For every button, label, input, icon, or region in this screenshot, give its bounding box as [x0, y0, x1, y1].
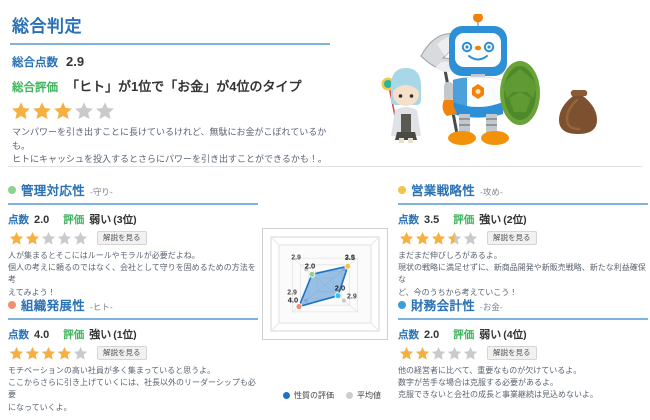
- legend-item-average: 平均値: [346, 390, 381, 401]
- star-icon: [9, 346, 24, 361]
- trait-card-eigyo: 営業戦略性 -攻め- 点数 3.5 評価 強い (2位) 解説を見る まだまだ伸…: [398, 180, 648, 299]
- star-icon: [9, 231, 24, 246]
- star-icon: [431, 346, 446, 361]
- trait-description: モチベーションの高い社員が多く集まっていると思うよ。 ここからさらに引き上げてい…: [8, 365, 258, 415]
- trait-card-header: 組織発展性 -ヒト-: [8, 295, 258, 314]
- legend-label-series: 性質の評価: [294, 390, 334, 401]
- trait-stars-row: 解説を見る: [398, 345, 648, 361]
- rating-label: 評価: [453, 327, 474, 342]
- svg-text:2.9: 2.9: [347, 294, 357, 301]
- star-icon: [95, 101, 115, 121]
- trait-card-zaimu: 財務会計性 -お金- 点数 2.0 評価 弱い (4位) 解説を見る 他の経営者…: [398, 295, 648, 402]
- rating-value: 弱い: [479, 326, 501, 342]
- star-icon: [41, 231, 56, 246]
- svg-text:2.9: 2.9: [345, 254, 355, 261]
- trait-description-line-2: 現状の戦略に満足せずに、新商品開発や新販売戦略、新たな利益確保な: [398, 262, 648, 287]
- radar-chart: 2.03.52.04.02.92.92.92.9: [262, 228, 388, 340]
- trait-divider: [8, 203, 258, 205]
- trait-description-line-1: モチベーションの高い社員が多く集まっていると思うよ。: [8, 365, 258, 377]
- trait-subtitle: -守り-: [90, 186, 113, 198]
- money-bag-icon: [559, 90, 597, 134]
- overall-description: マンパワーを引き出すことに長けているけれど、無駄にお金がこぼれているかも。 ヒト…: [12, 126, 340, 167]
- overall-rating-row: 総合評価 「ヒト」が1位で「お金」が4位のタイプ: [12, 76, 340, 95]
- trait-name: 営業戦略性: [411, 180, 475, 199]
- trait-name: 管理対応性: [21, 180, 85, 199]
- star-icon: [73, 231, 88, 246]
- trait-description-line-1: 他の経営者に比べて、重要なものが欠けているよ。: [398, 365, 648, 377]
- explain-button[interactable]: 解説を見る: [487, 231, 537, 245]
- trait-divider: [8, 318, 258, 320]
- score-label: 点数: [8, 212, 29, 227]
- legend-dot-icon: [283, 392, 290, 399]
- trait-description-line-2: ここからさらに引き上げていくには、社長以外のリーダーシップも必要: [8, 377, 258, 402]
- score-label: 点数: [398, 327, 419, 342]
- legend-item-series: 性質の評価: [283, 390, 334, 401]
- trait-name: 組織発展性: [21, 295, 85, 314]
- trait-card-soshiki: 組織発展性 -ヒト- 点数 4.0 評価 強い (1位) 解説を見る モチベーシ…: [8, 295, 258, 414]
- trait-subtitle: -ヒト-: [90, 301, 113, 313]
- trait-subtitle: -お金-: [480, 301, 503, 313]
- overall-score-row: 総合点数 2.9: [12, 54, 340, 70]
- rank-value: (4位): [503, 327, 526, 342]
- bullet-dot-icon: [8, 186, 16, 194]
- overall-summary-section: 総合判定 総合点数 2.9 総合評価 「ヒト」が1位で「お金」が4位のタイプ マ…: [10, 12, 340, 167]
- star-icon: [41, 346, 56, 361]
- trait-divider: [398, 203, 648, 205]
- trait-description-line-2: 数字が苦手な場合は克服する必要があるよ。: [398, 377, 648, 389]
- rank-value: (2位): [503, 212, 526, 227]
- overall-rating-value: 「ヒト」が1位で「お金」が4位のタイプ: [66, 76, 301, 95]
- score-value: 3.5: [424, 214, 439, 226]
- explain-button[interactable]: 解説を見る: [97, 231, 147, 245]
- star-icon: [415, 346, 430, 361]
- star-icon: [53, 101, 73, 121]
- score-value: 2.0: [424, 329, 439, 341]
- turtle-shield-icon: [500, 61, 540, 125]
- star-icon: [25, 231, 40, 246]
- trait-stars-row: 解説を見る: [398, 230, 648, 246]
- legend-label-average: 平均値: [357, 390, 381, 401]
- trait-name: 財務会計性: [411, 295, 475, 314]
- overall-score-label: 総合点数: [12, 54, 58, 70]
- hero-illustration: [345, 14, 645, 154]
- score-label: 点数: [398, 212, 419, 227]
- svg-text:2.0: 2.0: [305, 261, 315, 270]
- chart-legend: 性質の評価 平均値: [262, 390, 402, 401]
- trait-score-row: 点数 3.5 評価 強い (2位): [398, 211, 648, 227]
- svg-text:2.9: 2.9: [287, 290, 297, 297]
- rank-value: (1位): [113, 327, 136, 342]
- legend-dot-icon: [346, 392, 353, 399]
- trait-stars-row: 解説を見る: [8, 230, 258, 246]
- star-icon: [447, 346, 462, 361]
- trait-description-line-3: になっていくよ。: [8, 402, 258, 414]
- rating-label: 評価: [453, 212, 474, 227]
- page-title: 総合判定: [12, 12, 340, 37]
- rating-label: 評価: [63, 212, 84, 227]
- trait-star-rating: [9, 231, 88, 246]
- trait-star-rating: [9, 346, 88, 361]
- bullet-dot-icon: [398, 301, 406, 309]
- rank-value: (3位): [113, 212, 136, 227]
- star-icon: [447, 231, 462, 246]
- overall-rating-label: 総合評価: [12, 79, 58, 95]
- trait-description-line-1: まだまだ伸びしろがあるよ。: [398, 250, 648, 262]
- star-icon: [463, 346, 478, 361]
- trait-score-row: 点数 4.0 評価 強い (1位): [8, 326, 258, 342]
- score-label: 点数: [8, 327, 29, 342]
- rating-value: 強い: [89, 326, 111, 342]
- trait-description: まだまだ伸びしろがあるよ。 現状の戦略に満足せずに、新商品開発や新販売戦略、新た…: [398, 250, 648, 300]
- svg-text:4.0: 4.0: [288, 296, 298, 305]
- trait-card-header: 管理対応性 -守り-: [8, 180, 258, 199]
- trait-description-line-2: 個人の考えに頼るのではなく、会社として守りを固めるための方法を考: [8, 262, 258, 287]
- star-icon: [25, 346, 40, 361]
- trait-subtitle: -攻め-: [480, 186, 503, 198]
- robot-knight-icon: [443, 14, 512, 145]
- star-icon: [399, 231, 414, 246]
- trait-star-rating: [399, 346, 478, 361]
- rating-value: 弱い: [89, 211, 111, 227]
- trait-score-row: 点数 2.0 評価 弱い (3位): [8, 211, 258, 227]
- trait-card-kanri: 管理対応性 -守り- 点数 2.0 評価 弱い (3位) 解説を見る 人が集まる…: [8, 180, 258, 299]
- trait-description: 他の経営者に比べて、重要なものが欠けているよ。 数字が苦手な場合は克服する必要が…: [398, 365, 648, 402]
- star-icon: [32, 101, 52, 121]
- svg-text:2.0: 2.0: [335, 284, 345, 293]
- trait-divider: [398, 318, 648, 320]
- star-icon: [57, 231, 72, 246]
- overall-star-rating: [11, 101, 340, 121]
- overall-score-value: 2.9: [66, 54, 84, 69]
- trait-description-line-1: 人が集まるとそこにはルールやモラルが必要だよね。: [8, 250, 258, 262]
- trait-stars-row: 解説を見る: [8, 345, 258, 361]
- mage-character-icon: [382, 68, 422, 143]
- star-icon: [57, 346, 72, 361]
- title-divider: [10, 43, 330, 45]
- star-icon: [11, 101, 31, 121]
- star-icon: [431, 231, 446, 246]
- star-icon: [73, 346, 88, 361]
- explain-button[interactable]: 解説を見る: [97, 346, 147, 360]
- trait-card-header: 営業戦略性 -攻め-: [398, 180, 648, 199]
- star-icon: [463, 231, 478, 246]
- star-icon: [74, 101, 94, 121]
- star-icon: [415, 231, 430, 246]
- trait-card-header: 財務会計性 -お金-: [398, 295, 648, 314]
- rating-value: 強い: [479, 211, 501, 227]
- assessment-result-page: 総合判定 総合点数 2.9 総合評価 「ヒト」が1位で「お金」が4位のタイプ マ…: [0, 0, 650, 420]
- trait-description-line-3: 克服できないと会社の成長と事業継続は見込めないよ。: [398, 389, 648, 401]
- score-value: 4.0: [34, 329, 49, 341]
- star-icon: [399, 346, 414, 361]
- bullet-dot-icon: [8, 301, 16, 309]
- bullet-dot-icon: [398, 186, 406, 194]
- explain-button[interactable]: 解説を見る: [487, 346, 537, 360]
- trait-score-row: 点数 2.0 評価 弱い (4位): [398, 326, 648, 342]
- trait-description: 人が集まるとそこにはルールやモラルが必要だよね。 個人の考えに頼るのではなく、会…: [8, 250, 258, 300]
- svg-text:2.9: 2.9: [291, 254, 301, 261]
- trait-star-rating: [399, 231, 478, 246]
- overall-description-line-1: マンパワーを引き出すことに長けているけれど、無駄にお金がこぼれているかも。: [12, 126, 340, 153]
- section-divider: [8, 166, 642, 167]
- overall-description-line-2: ヒトにキャッシュを投入するとさらにパワーを引き出すことができるかも！。: [12, 153, 340, 167]
- rating-label: 評価: [63, 327, 84, 342]
- score-value: 2.0: [34, 214, 49, 226]
